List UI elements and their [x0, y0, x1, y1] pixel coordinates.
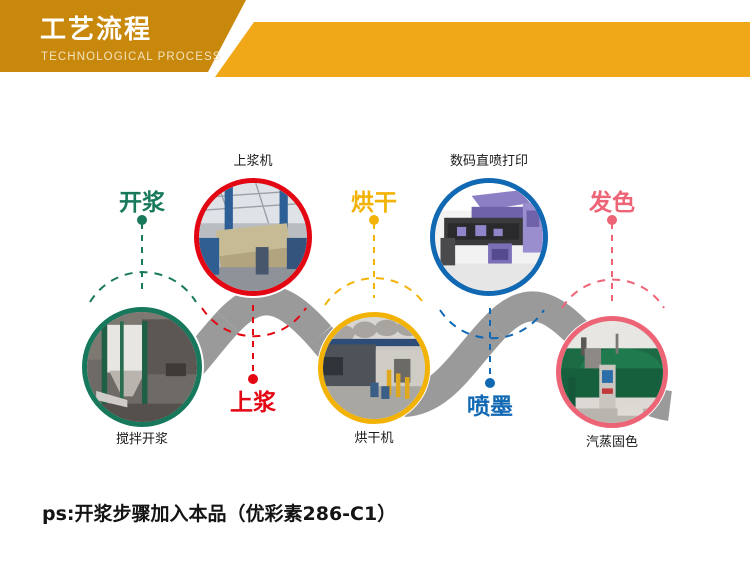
connector-shangjiang: [202, 305, 306, 384]
node-dryer[interactable]: [318, 312, 430, 424]
header-subtitle: TECHNOLOGICAL PROCESS: [41, 52, 222, 64]
connector-kaijiang: [90, 215, 196, 302]
node-sizing-caption: 上浆机: [193, 155, 313, 168]
header-banner: 工艺流程 TECHNOLOGICAL PROCESS: [0, 0, 750, 80]
node-printer-caption: 数码直喷打印: [429, 155, 549, 168]
step-label-honggan: 烘干: [334, 192, 414, 215]
photo-steam-fixation: [561, 321, 663, 423]
header-band-light: [215, 22, 750, 77]
node-dryer-caption: 烘干机: [318, 432, 430, 445]
node-steamer-caption: 汽蒸固色: [556, 436, 668, 449]
step-label-fase: 发色: [572, 192, 652, 215]
node-sizing[interactable]: [194, 178, 312, 296]
node-mixing[interactable]: [82, 307, 202, 427]
process-flow-diagram: 搅拌开浆 上浆机: [0, 80, 750, 500]
node-printer[interactable]: [430, 178, 548, 296]
step-label-kaijiang: 开浆: [102, 192, 182, 215]
node-steamer[interactable]: [556, 316, 668, 428]
header-title: 工艺流程: [40, 17, 152, 43]
connector-honggan: [325, 215, 425, 305]
node-mixing-caption: 搅拌开浆: [82, 433, 202, 446]
connector-fase: [562, 215, 664, 308]
step-label-shangjiang: 上浆: [213, 392, 293, 415]
footer-note: ps:开浆步骤加入本品（优彩素286-C1）: [42, 503, 396, 526]
photo-mixing-tank: [87, 312, 197, 422]
photo-drying-machine: [323, 317, 425, 419]
photo-digital-printer: [435, 183, 543, 291]
connector-penmo: [440, 308, 544, 388]
photo-sizing-machine: [199, 183, 307, 291]
step-label-penmo: 喷墨: [450, 396, 530, 419]
